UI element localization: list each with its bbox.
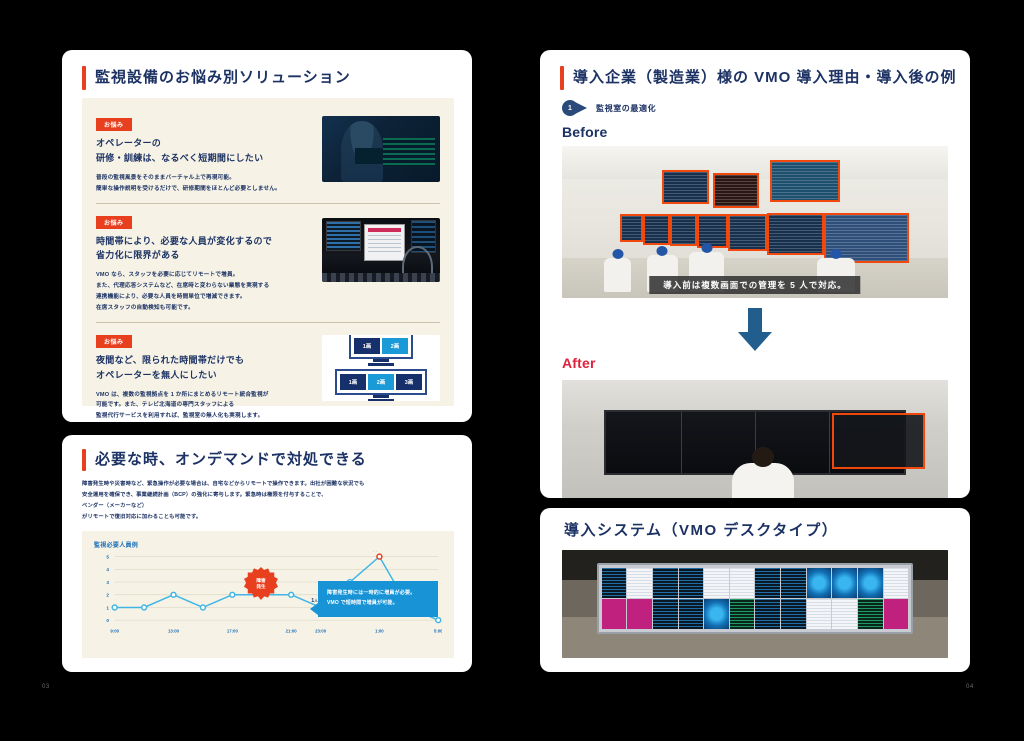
videowall-tile xyxy=(627,568,652,598)
card-body-line3: 監視代行サービスを利用すれば、監視室の無人化も実現します。 xyxy=(96,411,440,422)
svg-text:5:00: 5:00 xyxy=(434,628,442,633)
svg-text:17:00: 17:00 xyxy=(227,628,239,633)
videowall-tile xyxy=(832,599,857,629)
videowall-tile xyxy=(679,568,704,598)
svg-text:3: 3 xyxy=(106,580,109,585)
page-title: 導入システム（VMO デスクタイプ） xyxy=(564,520,838,543)
slide-panel-system: 導入システム（VMO デスクタイプ） xyxy=(540,508,970,672)
videowall-tile xyxy=(653,599,678,629)
title-accent-bar xyxy=(82,66,86,90)
videowall-tile xyxy=(602,568,627,598)
monitor-tile: 3画 xyxy=(396,374,422,390)
before-label: Before xyxy=(562,124,608,140)
page-title: 監視設備のお悩み別ソリューション xyxy=(95,67,351,90)
monitor-tile: 2画 xyxy=(368,374,394,390)
system-title-row: 導入システム（VMO デスクタイプ） xyxy=(564,520,838,543)
card-image-remote-desk xyxy=(322,218,440,282)
chart-x-axis-ticks: 9:0013:0017:0021:0023:001:005:00 xyxy=(110,628,442,633)
after-label: After xyxy=(562,355,596,371)
svg-text:21:00: 21:00 xyxy=(286,628,298,633)
monitor-tile: 1画 xyxy=(354,338,380,354)
videowall-tile xyxy=(730,599,755,629)
card-body-line4: 在席スタッフの自動検知も可能です。 xyxy=(96,303,440,314)
svg-text:23:00: 23:00 xyxy=(315,628,327,633)
solutions-title-row: 監視設備のお悩み別ソリューション xyxy=(82,66,351,90)
solution-cards-area: お悩み オペレーターの 研修・訓練は、なるべく短期間にしたい 普段の監視風景をそ… xyxy=(82,98,454,406)
solution-card: お悩み 時間帯により、必要な人員が変化するので 省力化に限界がある VMO なら… xyxy=(96,203,440,322)
monitor-row-top: 1画 2画 xyxy=(349,335,413,367)
monitor-tile: 2画 xyxy=(382,338,408,354)
card-body-line3: 連携機能により、必要な人員を時間単位で増減できます。 xyxy=(96,292,440,303)
card-body-line2: 可能です。また、テレビ北海道の専門スタッフによる xyxy=(96,400,440,411)
svg-text:1:00: 1:00 xyxy=(375,628,384,633)
videowall-tile xyxy=(781,599,806,629)
solution-card: お悩み 夜間など、限られた時間帯だけでも オペレーターを無人にしたい VMO は… xyxy=(96,322,440,422)
slide-panel-case-study: 導入企業（製造業）様の VMO 導入理由・導入後の例 1 監視室の最適化 Bef… xyxy=(540,50,970,498)
page-number-right: 04 xyxy=(966,684,974,690)
ondemand-lead-text: 障害発生時や災害時など、緊急操作が必要な場合は、自宅などからリモートで操作できま… xyxy=(82,479,454,522)
monitor-tile: 1画 xyxy=(340,374,366,390)
videowall-tile xyxy=(884,568,909,598)
staffing-chart: 監視必要人員例 012345 9:0013:0017:0021:0023:001… xyxy=(82,531,454,658)
section-label: 監視室の最適化 xyxy=(596,103,656,114)
page-title: 導入企業（製造業）様の VMO 導入理由・導入後の例 xyxy=(573,67,957,90)
videowall-tile xyxy=(807,568,832,598)
page-title: 必要な時、オンデマンドで対処できる xyxy=(95,449,367,472)
lead-line2: 安全運用を確保でき、事業継続計画（BCP）の強化に寄与します。緊急時は権限を付与… xyxy=(82,490,454,501)
videowall-tile xyxy=(858,568,883,598)
title-accent-bar xyxy=(82,449,86,471)
videowall-grid xyxy=(597,563,914,634)
before-caption: 導入前は複数画面での管理を 5 人で対応。 xyxy=(649,276,860,294)
monitor-row-bottom: 1画 2画 3画 xyxy=(335,369,427,401)
slide-panel-ondemand: 必要な時、オンデマンドで対処できる 障害発生時や災害時など、緊急操作が必要な場合… xyxy=(62,435,472,672)
videowall-tile xyxy=(884,599,909,629)
svg-text:4: 4 xyxy=(106,567,109,572)
svg-text:5: 5 xyxy=(106,554,109,559)
chart-title: 監視必要人員例 xyxy=(94,540,442,549)
videowall-tile xyxy=(832,568,857,598)
arrow-down-icon xyxy=(735,308,775,352)
title-accent-bar xyxy=(560,66,564,90)
after-photo: VMO を導入し、5 人体制⇒1 人体制へ xyxy=(562,380,948,498)
solution-card: お悩み オペレーターの 研修・訓練は、なるべく短期間にしたい 普段の監視風景をそ… xyxy=(96,108,440,203)
case-title-row: 導入企業（製造業）様の VMO 導入理由・導入後の例 xyxy=(560,66,957,90)
videowall-tile xyxy=(807,599,832,629)
numbered-arrow-icon: 1 xyxy=(562,100,588,116)
videowall-tile xyxy=(781,568,806,598)
callout-line1: 障害発生時には一時的に増員が必要。 xyxy=(327,589,429,599)
videowall-tile xyxy=(704,568,729,598)
section-badge-row: 1 監視室の最適化 xyxy=(562,100,656,116)
videowall-tile xyxy=(627,599,652,629)
svg-text:9:00: 9:00 xyxy=(110,628,119,633)
burst-line2: 発生 xyxy=(256,584,265,589)
card-body-line2: また、代理応答システムなど、在席時と変わらない業態を実現する xyxy=(96,281,440,292)
ondemand-title-row: 必要な時、オンデマンドで対処できる xyxy=(82,449,367,471)
videowall-tile xyxy=(653,568,678,598)
system-photo xyxy=(562,550,948,658)
videowall-tile xyxy=(755,568,780,598)
before-photo: 導入前は複数画面での管理を 5 人で対応。 xyxy=(562,146,948,298)
svg-text:13:00: 13:00 xyxy=(168,628,180,633)
status-badge: お悩み xyxy=(96,216,132,229)
chart-y-axis-ticks: 012345 xyxy=(106,554,109,623)
burst-line1: 障害 xyxy=(256,578,265,583)
status-badge: お悩み xyxy=(96,118,132,131)
svg-text:1: 1 xyxy=(106,605,109,610)
card-image-operator xyxy=(322,116,440,182)
section-number: 1 xyxy=(562,100,578,116)
page-number-left: 03 xyxy=(42,684,50,690)
videowall-tile xyxy=(602,599,627,629)
callout-line2: VMO で短時間で増員が可能。 xyxy=(327,599,429,609)
videowall-tile xyxy=(755,599,780,629)
multi-monitor-diagram: 1画 2画 1画 2画 3画 xyxy=(322,335,440,401)
lead-line4: がリモートで復旧対応に加わることも可能です。 xyxy=(82,512,454,523)
card-body-line2: 簡単な操作説明を受けるだけで、研修期間をほとんど必要としません。 xyxy=(96,184,440,195)
slide-deck-canvas: 監視設備のお悩み別ソリューション お悩み オペレーターの 研修・訓練は、なるべく… xyxy=(0,0,1024,741)
videowall-tile xyxy=(704,599,729,629)
svg-text:5人: 5人 xyxy=(370,551,377,553)
chart-callout: 障害発生時には一時的に増員が必要。 VMO で短時間で増員が可能。 xyxy=(318,581,438,617)
chart-plot-area: 012345 9:0013:0017:0021:0023:001:005:00 … xyxy=(94,551,442,637)
svg-text:0: 0 xyxy=(106,618,109,623)
slide-panel-solutions: 監視設備のお悩み別ソリューション お悩み オペレーターの 研修・訓練は、なるべく… xyxy=(62,50,472,422)
videowall-tile xyxy=(679,599,704,629)
status-badge: お悩み xyxy=(96,335,132,348)
svg-text:2: 2 xyxy=(106,593,109,598)
lead-line3: ベンダー（メーカーなど） xyxy=(82,501,454,512)
videowall-tile xyxy=(730,568,755,598)
lead-line1: 障害発生時や災害時など、緊急操作が必要な場合は、自宅などからリモートで操作できま… xyxy=(82,479,454,490)
videowall-tile xyxy=(858,599,883,629)
